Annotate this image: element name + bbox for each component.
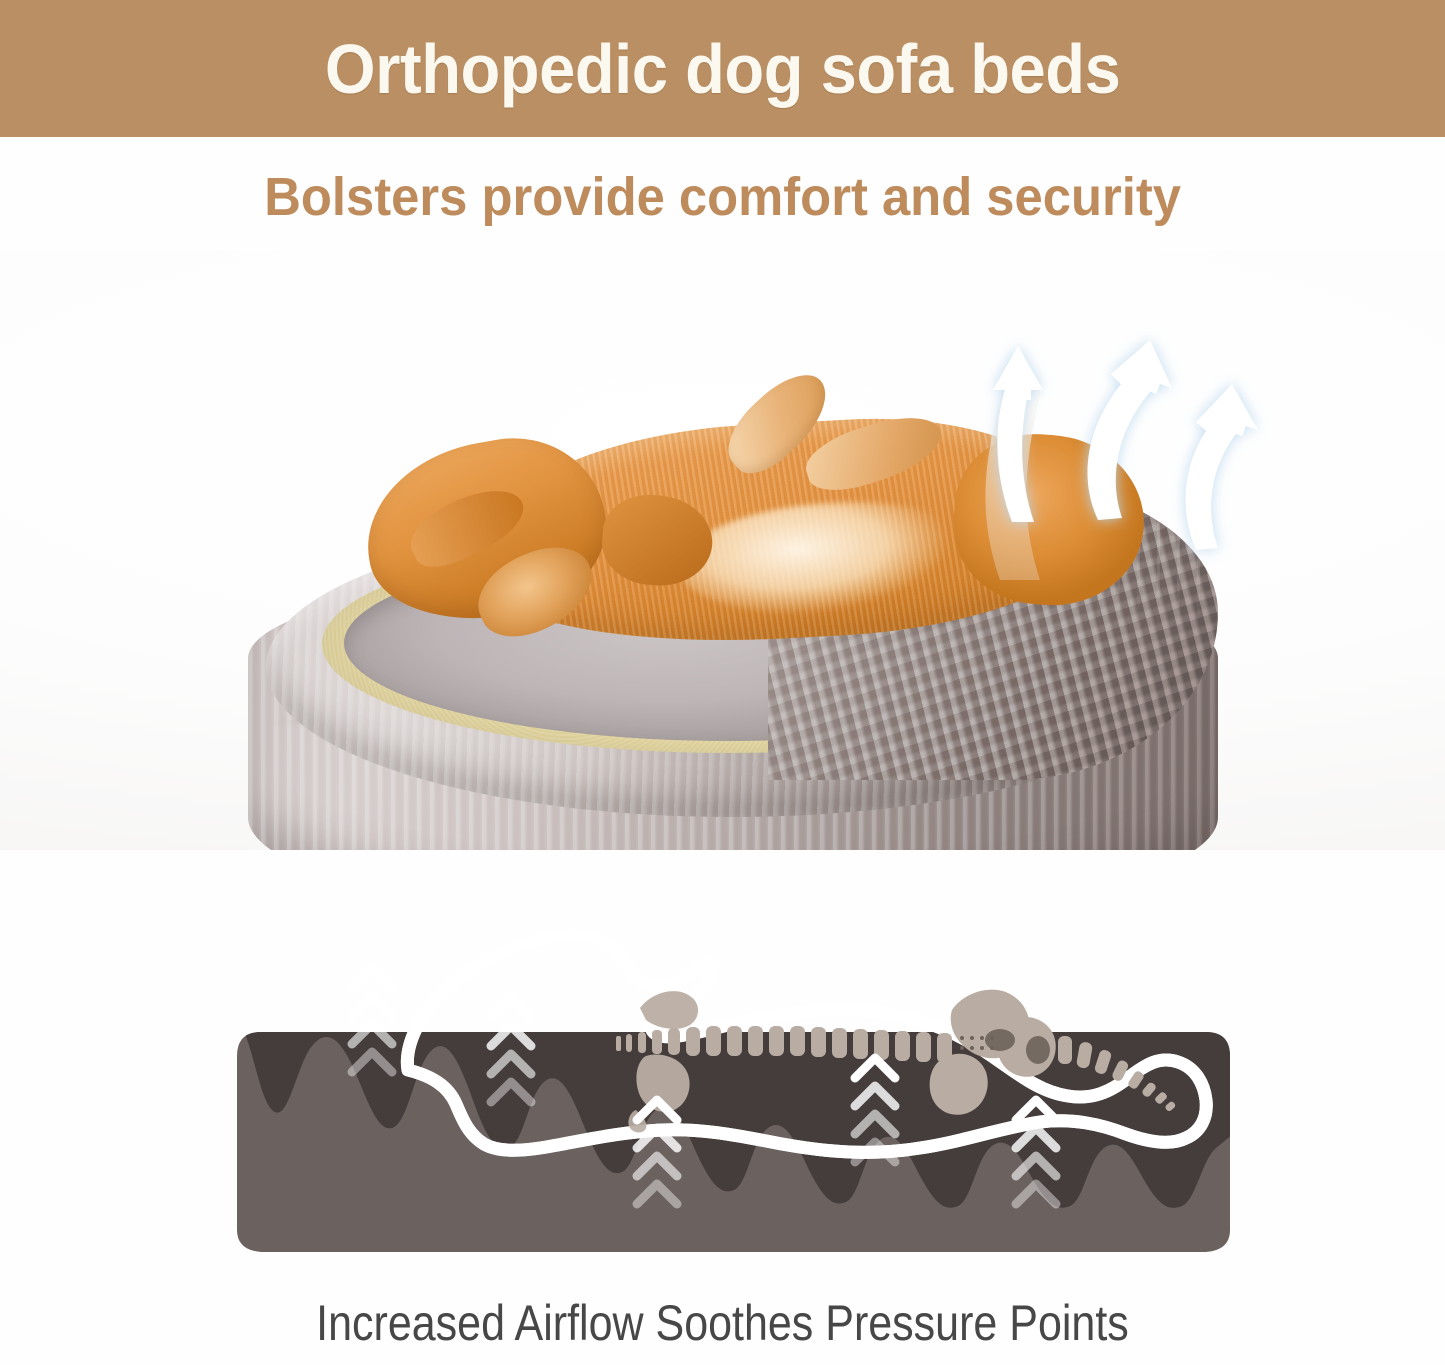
orthopedic-diagram [0,860,1445,1280]
page-title: Orthopedic dog sofa beds [325,29,1120,109]
subtitle-row: Bolsters provide comfort and security [0,157,1445,237]
dog-muzzle [465,532,606,650]
caption-row: Increased Airflow Soothes Pressure Point… [0,1288,1445,1358]
dog-bed [248,385,1218,850]
diagram-caption: Increased Airflow Soothes Pressure Point… [316,1294,1129,1352]
header-band: Orthopedic dog sofa beds [0,0,1445,137]
subtitle-text: Bolsters provide comfort and security [264,166,1181,228]
dog-photo [248,385,1218,850]
product-photo [0,250,1445,850]
